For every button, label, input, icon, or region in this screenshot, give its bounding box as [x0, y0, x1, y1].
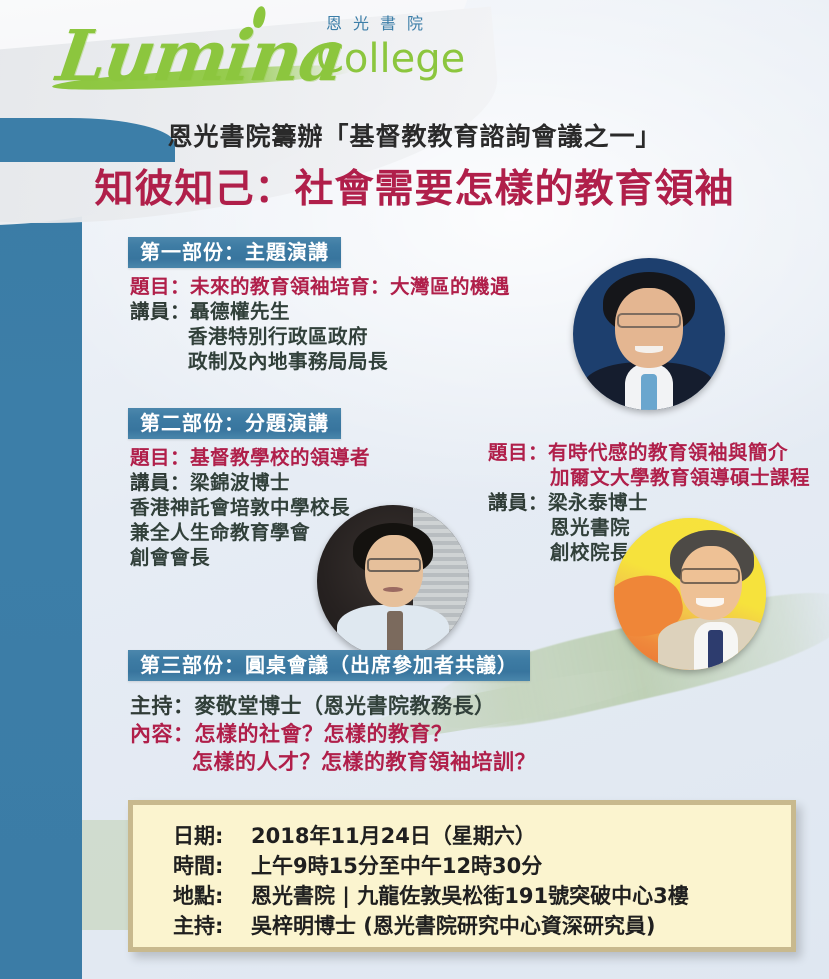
section-3-host-line: 主持：麥敬堂博士（恩光書院教務長） [130, 692, 536, 720]
lumina-college-logo: Lumina 恩光書院 College [58, 8, 458, 103]
poster-title: 知彼知己：社會需要怎樣的教育領袖 [0, 158, 829, 214]
info-row-time: 時間: 上午9時15分至中午12時30分 [173, 851, 791, 881]
section-2-right-speaker: 梁永泰博士 [548, 491, 648, 514]
info-label-moderator: 主持: [173, 911, 251, 941]
section-1-affiliation-2: 政制及內地事務局局長 [130, 349, 510, 374]
section-3-content-1: 怎樣的社會？怎樣的教育？ [195, 722, 453, 746]
section-1-body: 題目：未來的教育領袖培育：大灣區的機遇 講員：聶德權先生 香港特別行政區政府 政… [130, 274, 510, 374]
section-3-content-label: 內容： [130, 722, 195, 746]
section-3-content-2: 怎樣的人才？怎樣的教育領袖培訓？ [130, 748, 536, 776]
section-2-left-topic: 基督教學校的領導者 [190, 446, 370, 469]
section-2-right-topic-2: 加爾文大學教育領導碩士課程 [488, 465, 810, 490]
event-details-box: 日期: 2018年11月24日（星期六） 時間: 上午9時15分至中午12時30… [128, 800, 796, 952]
section-2-header: 第二部份：分題演講 [128, 408, 341, 439]
poster-subtitle: 恩光書院籌辦「基督教教育諮詢會議之一」 [0, 117, 829, 153]
section-1-topic: 未來的教育領袖培育：大灣區的機遇 [190, 275, 510, 298]
info-label-venue: 地點: [173, 881, 251, 911]
section-2-right-topic-line: 題目：有時代感的教育領袖與簡介 [488, 440, 810, 465]
section-3-header: 第三部份：圓桌會議（出席參加者共議） [128, 650, 530, 681]
info-row-venue: 地點: 恩光書院 | 九龍佐敦吳松街191號突破中心3樓 [173, 881, 791, 911]
section-1-speaker-label: 講員： [130, 300, 190, 323]
info-value-venue: 恩光書院 | 九龍佐敦吳松街191號突破中心3樓 [251, 881, 791, 911]
logo-college-text: College [316, 36, 465, 82]
speaker-photo-leung-kam-po [317, 505, 469, 657]
info-row-moderator: 主持: 吳梓明博士 (恩光書院研究中心資深研究員) [173, 911, 791, 941]
speaker-photo-leung-wing-tai [614, 518, 766, 670]
section-2-right-speaker-label: 講員： [488, 491, 548, 514]
section-1-affiliation-1: 香港特別行政區政府 [130, 324, 510, 349]
section-2-left-speaker-label: 講員： [130, 471, 190, 494]
section-3-content-line: 內容：怎樣的社會？怎樣的教育？ [130, 720, 536, 748]
section-2-left-topic-label: 題目： [130, 446, 190, 469]
section-2-right-topic-1: 有時代感的教育領袖與簡介 [548, 441, 788, 464]
section-3-host-label: 主持： [130, 694, 195, 718]
event-poster: Lumina 恩光書院 College 恩光書院籌辦「基督教教育諮詢會議之一」 … [0, 0, 829, 979]
info-label-time: 時間: [173, 851, 251, 881]
section-1-topic-line: 題目：未來的教育領袖培育：大灣區的機遇 [130, 274, 510, 299]
info-value-date: 2018年11月24日（星期六） [251, 821, 791, 851]
section-2-left-speaker: 梁錦波博士 [190, 471, 290, 494]
section-1-topic-label: 題目： [130, 275, 190, 298]
section-2-left-speaker-line: 講員：梁錦波博士 [130, 470, 370, 495]
info-value-time: 上午9時15分至中午12時30分 [251, 851, 791, 881]
section-1-speaker: 聶德權先生 [190, 300, 290, 323]
logo-chinese-name: 恩光書院 [326, 10, 434, 34]
section-2-right-topic-label: 題目： [488, 441, 548, 464]
section-2-left-topic-line: 題目：基督教學校的領導者 [130, 445, 370, 470]
section-1-speaker-line: 講員：聶德權先生 [130, 299, 510, 324]
info-value-moderator: 吳梓明博士 (恩光書院研究中心資深研究員) [251, 911, 791, 941]
section-3-host: 麥敬堂博士（恩光書院教務長） [195, 694, 496, 718]
info-row-date: 日期: 2018年11月24日（星期六） [173, 821, 791, 851]
logo-wordmark: Lumina [52, 14, 349, 97]
info-label-date: 日期: [173, 821, 251, 851]
speaker-photo-nip-tak-kuen [573, 258, 725, 410]
section-3-body: 主持：麥敬堂博士（恩光書院教務長） 內容：怎樣的社會？怎樣的教育？ 怎樣的人才？… [130, 692, 536, 776]
section-1-header: 第一部份：主題演講 [128, 237, 341, 268]
section-2-right-speaker-line: 講員：梁永泰博士 [488, 490, 810, 515]
